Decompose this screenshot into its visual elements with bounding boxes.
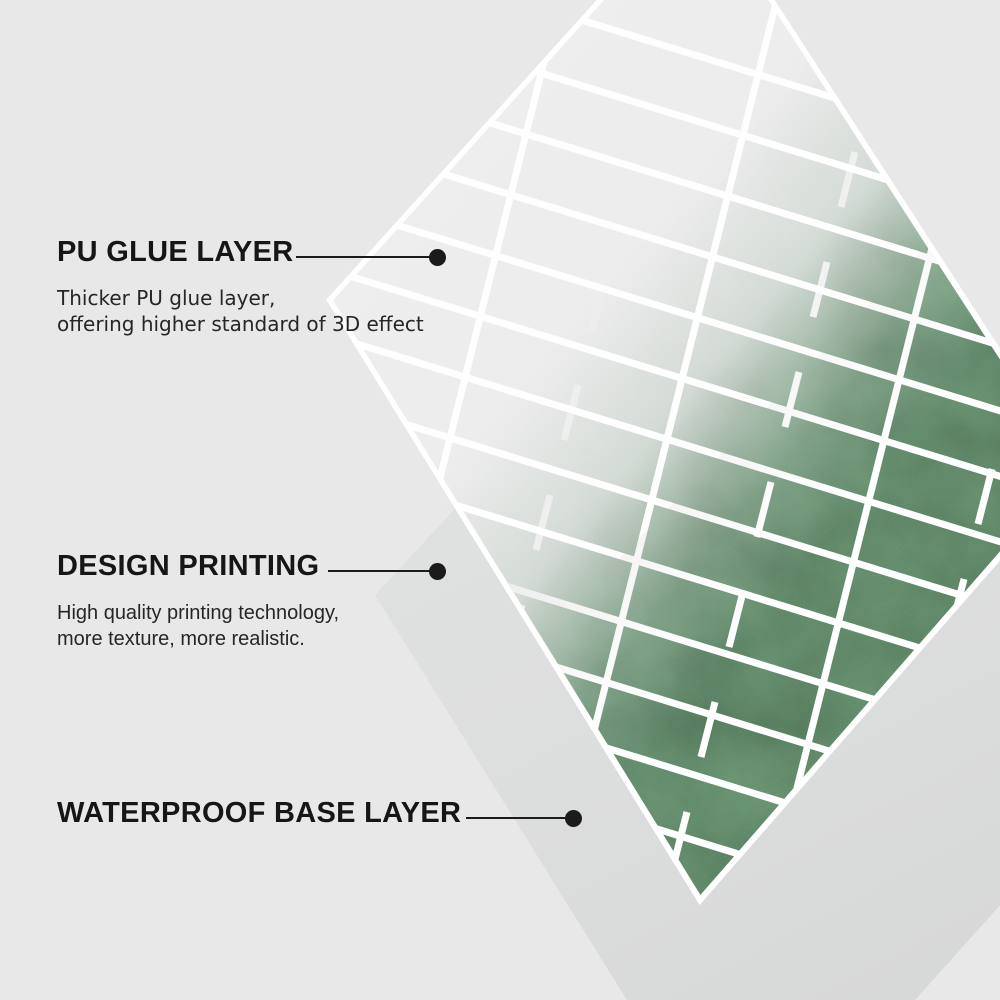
callout-dot-design-printing: [429, 563, 446, 580]
callout-title-waterproof-base-layer: WATERPROOF BASE LAYER: [57, 799, 461, 828]
infographic-canvas: PU GLUE LAYER Thicker PU glue layer,offe…: [0, 0, 1000, 1000]
callout-body-design-printing: High quality printing technology,more te…: [57, 600, 339, 653]
callout-dot-waterproof-base-layer: [565, 810, 582, 827]
leader-line-pu-glue-layer: [296, 256, 434, 258]
callout-body-line-2: more texture, more realistic.: [57, 628, 305, 650]
callout-body-pu-glue-layer: Thicker PU glue layer,offering higher st…: [57, 285, 424, 338]
leader-line-waterproof-base-layer: [466, 817, 569, 819]
callout-body-line-1: Thicker PU glue layer,: [57, 286, 275, 310]
tile-layer-illustration: [0, 0, 1000, 1000]
callout-body-line-2: offering higher standard of 3D effect: [57, 312, 424, 336]
callout-title-design-printing: DESIGN PRINTING: [57, 552, 319, 581]
callout-dot-pu-glue-layer: [429, 249, 446, 266]
callout-title-pu-glue-layer: PU GLUE LAYER: [57, 238, 293, 267]
leader-line-design-printing: [328, 570, 434, 572]
callout-body-line-1: High quality printing technology,: [57, 602, 339, 624]
